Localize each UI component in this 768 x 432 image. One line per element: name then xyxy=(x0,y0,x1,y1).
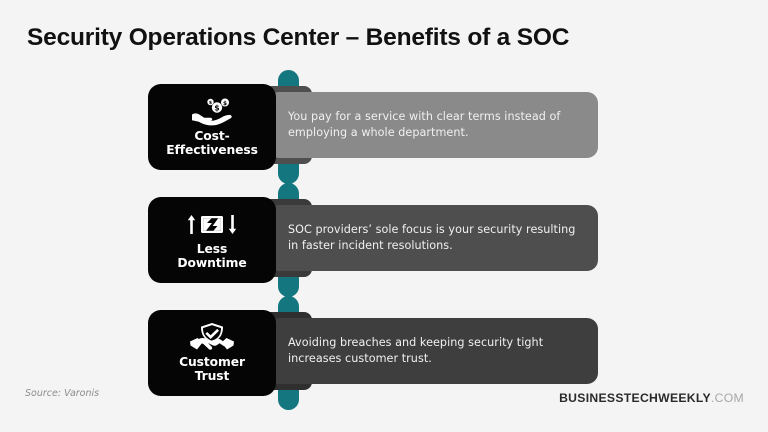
benefit-row: SOC providers’ sole focus is your securi… xyxy=(0,183,768,303)
benefit-card-cost-effectiveness[interactable]: $ $ $ Cost- Effectiveness xyxy=(148,84,276,170)
brand-tld: .COM xyxy=(711,391,744,405)
benefit-label-line-1: Less xyxy=(197,242,227,256)
benefit-description-text: SOC providers’ sole focus is your securi… xyxy=(288,222,580,255)
benefit-card-less-downtime[interactable]: Less Downtime xyxy=(148,197,276,283)
svg-text:$: $ xyxy=(209,99,212,105)
brand-logo: BUSINESSTECHWEEKLY.COM xyxy=(559,391,744,405)
source-note: Source: Varonis xyxy=(25,388,99,399)
benefit-card-label: Customer Trust xyxy=(179,355,245,384)
benefit-label-line-1: Cost- xyxy=(194,129,229,143)
downtime-arrows-icon xyxy=(184,210,240,240)
benefit-row: You pay for a service with clear terms i… xyxy=(0,70,768,190)
hand-with-coins-icon: $ $ $ xyxy=(188,97,236,127)
benefit-card-customer-trust[interactable]: Customer Trust xyxy=(148,310,276,396)
benefit-description-panel: Avoiding breaches and keeping security t… xyxy=(268,318,598,384)
handshake-shield-icon xyxy=(187,323,237,353)
benefit-description-text: You pay for a service with clear terms i… xyxy=(288,109,580,142)
benefit-card-label: Less Downtime xyxy=(177,242,246,271)
page-title: Security Operations Center – Benefits of… xyxy=(27,24,569,52)
benefit-label-line-2: Downtime xyxy=(177,256,246,270)
benefit-label-line-2: Effectiveness xyxy=(166,143,258,157)
benefit-description-text: Avoiding breaches and keeping security t… xyxy=(288,335,580,368)
slide-canvas: Security Operations Center – Benefits of… xyxy=(0,0,768,432)
svg-text:$: $ xyxy=(214,103,219,112)
svg-text:$: $ xyxy=(223,100,227,106)
benefit-card-label: Cost- Effectiveness xyxy=(166,129,258,158)
benefit-label-line-2: Trust xyxy=(195,369,230,383)
brand-name: BUSINESSTECHWEEKLY xyxy=(559,391,711,405)
benefit-description-panel: You pay for a service with clear terms i… xyxy=(268,92,598,158)
benefit-description-panel: SOC providers’ sole focus is your securi… xyxy=(268,205,598,271)
benefit-label-line-1: Customer xyxy=(179,355,245,369)
